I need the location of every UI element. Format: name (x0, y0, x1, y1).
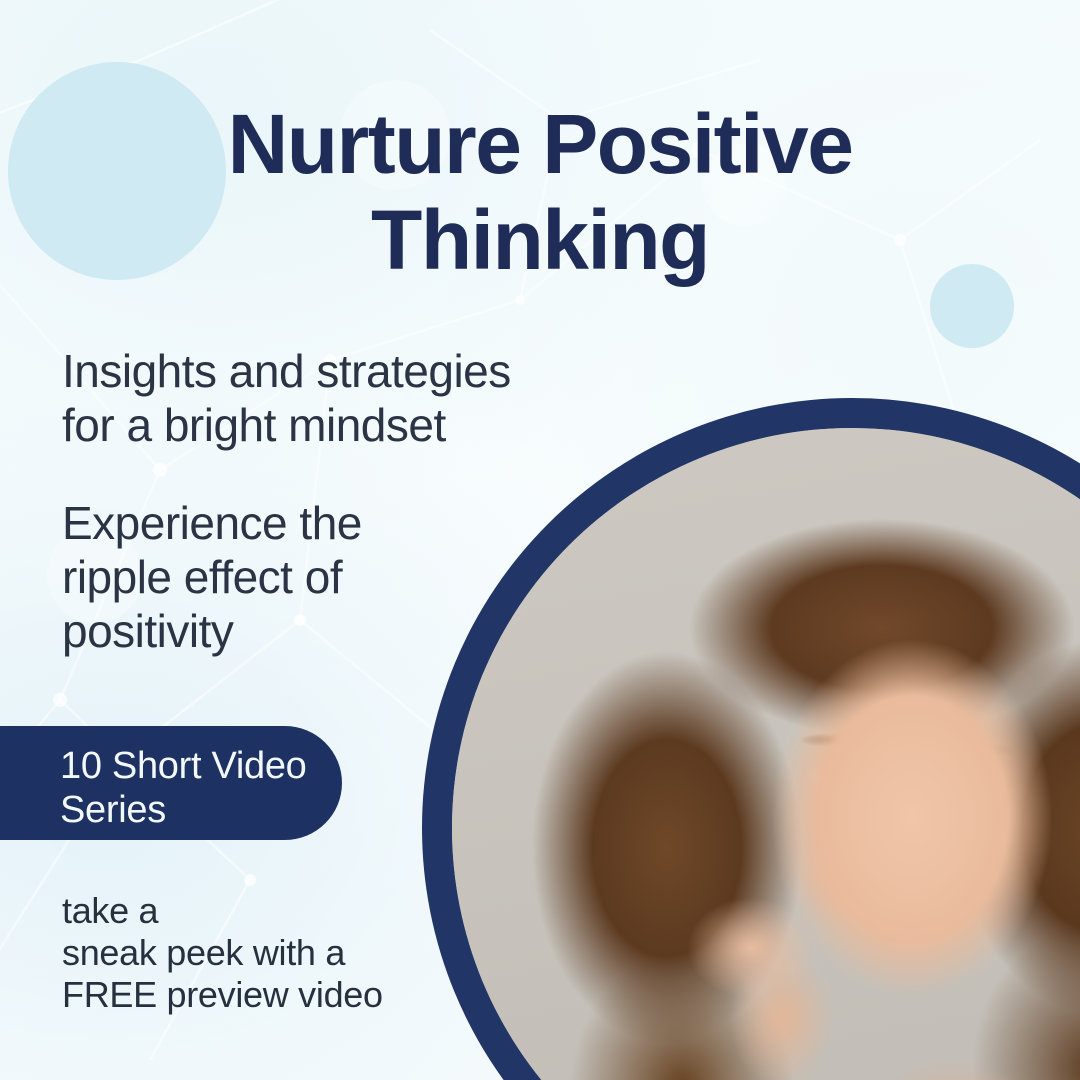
lead-text: Insights and strategies for a bright min… (62, 344, 511, 452)
portrait-photo (452, 428, 1080, 1080)
poster-canvas: Nurture Positive Thinking Insights and s… (0, 0, 1080, 1080)
portrait-ring (422, 398, 1080, 1080)
page-title: Nurture Positive Thinking (60, 96, 1020, 288)
secondary-text: Experience the ripple effect of positivi… (62, 496, 362, 658)
video-series-badge: 10 Short Video Series (0, 726, 342, 840)
cta-text: take a sneak peek with a FREE preview vi… (62, 890, 383, 1016)
portrait-image (452, 428, 1080, 1080)
